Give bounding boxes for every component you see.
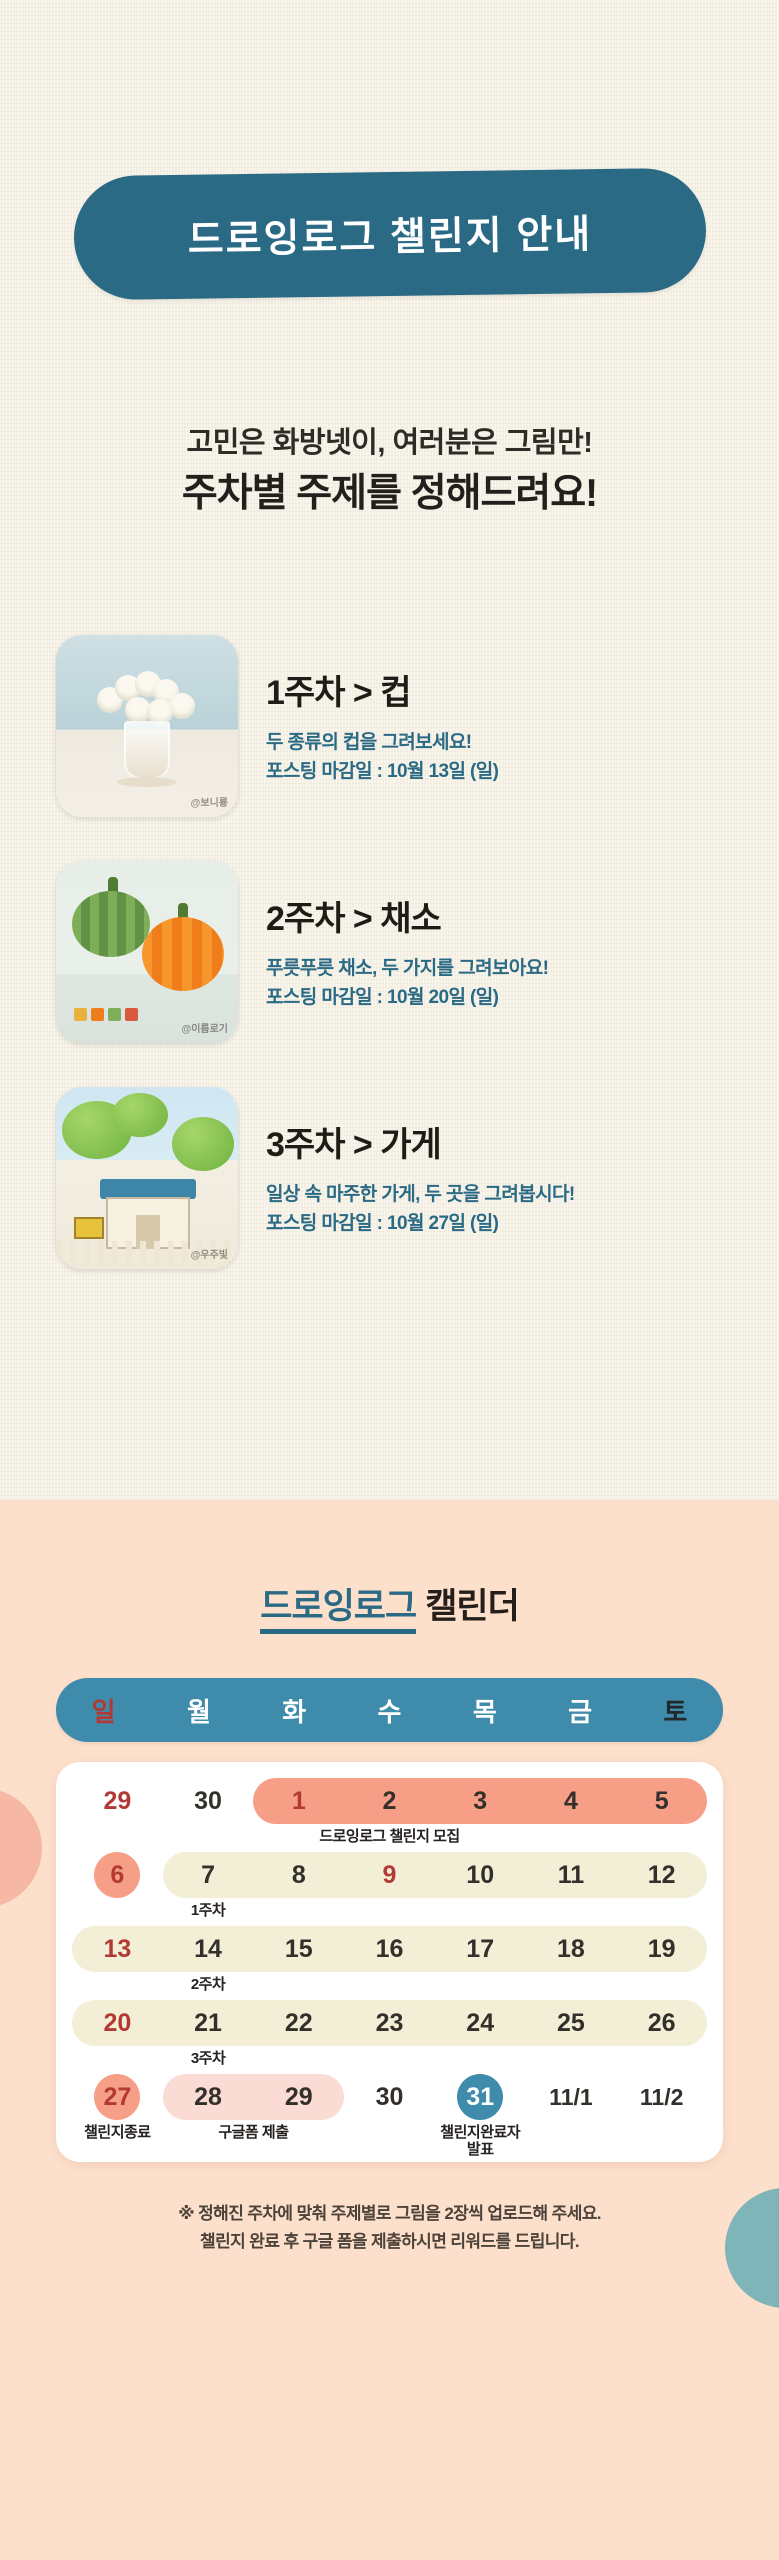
calendar-event-label: 3주차 [163,2050,254,2070]
day-number: 24 [466,2009,494,2038]
calendar-day-23[interactable]: 23 [344,1996,435,2050]
week-item: @보니룡 1주차 > 컵 두 종류의 컵을 그려보세요! 포스팅 마감일 : 1… [0,635,779,817]
week-description: 일상 속 마주한 가게, 두 곳을 그려봅시다! [266,1180,575,1209]
week-deadline: 포스팅 마감일 : 10월 13일 (일) [266,757,498,786]
calendar-day-8[interactable]: 8 [253,1848,344,1902]
banner-wrapper: 드로잉로그 챌린지 안내 [0,172,779,296]
calendar-day-16[interactable]: 16 [344,1922,435,1976]
calendar-week-row: 202122232425263주차 [72,1996,707,2070]
calendar-day-cells: 272829303111/111/2 [72,2070,707,2124]
day-number: 19 [648,1935,676,1964]
calendar-event-label: 챌린지종료 [72,2124,163,2159]
calendar-day-7[interactable]: 7 [163,1848,254,1902]
dow-monday: 월 [151,1692,246,1729]
day-number: 17 [466,1935,494,1964]
watermark: @이름로기 [181,1020,228,1035]
dow-thursday: 목 [437,1692,532,1729]
day-number: 25 [557,2009,585,2038]
paint-swatches-art [74,1008,138,1021]
glass-foot-art [117,777,177,787]
week-description: 푸릇푸릇 채소, 두 가지를 그려보아요! [266,954,548,983]
calendar-day-11-1[interactable]: 11/1 [526,2070,617,2124]
day-number: 11 [558,1861,584,1890]
week1-thumbnail-cup: @보니룡 [56,635,238,817]
calendar-day-cells: 13141516171819 [72,1922,707,1976]
weekly-topic-list: @보니룡 1주차 > 컵 두 종류의 컵을 그려보세요! 포스팅 마감일 : 1… [0,635,779,1313]
day-number: 11/2 [640,2084,684,2111]
calendar-day-cells: 293012345 [72,1774,707,1828]
dow-wednesday: 수 [342,1692,437,1729]
calendar-row-labels: 1주차 [72,1902,707,1922]
calendar-day-20[interactable]: 20 [72,1996,163,2050]
calendar-day-11[interactable]: 11 [526,1848,617,1902]
calendar-heading-accent: 드로잉로그 [260,1587,416,1634]
calendar-week-row: 272829303111/111/2챌린지종료구글폼 제출챌린지완료자 발표 [72,2070,707,2144]
calendar-week-row: 293012345드로잉로그 챌린지 모집 [72,1774,707,1848]
calendar-day-3[interactable]: 3 [435,1774,526,1828]
calendar-event-label: 1주차 [163,1902,254,1922]
day-number: 14 [194,1935,222,1964]
calendar-day-4[interactable]: 4 [526,1774,617,1828]
week3-thumbnail-shop: @우주빛 [56,1087,238,1269]
calendar-event-label: 2주차 [163,1976,254,1996]
calendar-day-2[interactable]: 2 [344,1774,435,1828]
calendar-event-label: 구글폼 제출 [163,2124,344,2159]
calendar-day-13[interactable]: 13 [72,1922,163,1976]
footnote: ※ 정해진 주차에 맞춰 주제별로 그림을 2장씩 업로드해 주세요. 챌린지 … [0,2200,779,2256]
footnote-line-2: 챌린지 완료 후 구글 폼을 제출하시면 리워드를 드립니다. [0,2228,779,2256]
calendar-day-28[interactable]: 28 [163,2070,254,2124]
day-number: 5 [655,1787,669,1816]
day-number: 21 [194,2009,222,2038]
tree-art [172,1117,234,1171]
day-of-week-bar: 일 월 화 수 목 금 토 [56,1678,723,1742]
calendar-day-10[interactable]: 10 [435,1848,526,1902]
roof-art [100,1179,196,1199]
day-number: 30 [194,1787,222,1816]
calendar-day-29[interactable]: 29 [72,1774,163,1828]
calendar-day-5[interactable]: 5 [616,1774,707,1828]
watermark: @보니룡 [191,794,228,809]
headline-title: 주차별 주제를 정해드려요! [0,471,779,518]
week2-thumbnail-vegetable: @이름로기 [56,861,238,1043]
day-number: 29 [285,2083,313,2112]
calendar-day-27[interactable]: 27 [72,2070,163,2124]
day-number: 6 [110,1861,124,1890]
calendar-row-labels: 2주차 [72,1976,707,1996]
week-text-block: 2주차 > 채소 푸릇푸릇 채소, 두 가지를 그려보아요! 포스팅 마감일 :… [266,861,548,1013]
day-number: 10 [466,1861,494,1890]
day-number: 12 [648,1861,676,1890]
day-number: 23 [376,2009,404,2038]
week-text-block: 1주차 > 컵 두 종류의 컵을 그려보세요! 포스팅 마감일 : 10월 13… [266,635,498,787]
watermark: @우주빛 [191,1246,228,1261]
calendar-row-labels: 3주차 [72,2050,707,2070]
day-number: 28 [194,2083,222,2112]
shop-sign-art [74,1217,104,1239]
day-number: 22 [285,2009,313,2038]
calendar-day-cells: 20212223242526 [72,1996,707,2050]
week-deadline: 포스팅 마감일 : 10월 20일 (일) [266,983,548,1012]
day-number: 18 [557,1935,585,1964]
dow-tuesday: 화 [247,1692,342,1729]
week-text-block: 3주차 > 가게 일상 속 마주한 가게, 두 곳을 그려봅시다! 포스팅 마감… [266,1087,575,1239]
day-number: 29 [103,1787,131,1816]
calendar-day-21[interactable]: 21 [163,1996,254,2050]
banner-title: 드로잉로그 챌린지 안내 [187,203,592,265]
day-number: 3 [473,1787,487,1816]
calendar-heading-plain: 캘린더 [425,1587,519,1626]
day-number: 2 [383,1787,397,1816]
day-number: 8 [292,1861,306,1890]
calendar-event-label: 드로잉로그 챌린지 모집 [253,1828,525,1848]
day-number: 30 [376,2083,404,2112]
week-title: 1주차 > 컵 [266,665,498,714]
dow-saturday: 토 [628,1692,723,1729]
day-number: 15 [285,1935,313,1964]
calendar-row-labels: 챌린지종료구글폼 제출챌린지완료자 발표 [72,2124,707,2144]
footnote-line-1: ※ 정해진 주차에 맞춰 주제별로 그림을 2장씩 업로드해 주세요. [0,2200,779,2228]
decorative-circle-left [0,1788,42,1908]
calendar-row-labels: 드로잉로그 챌린지 모집 [72,1828,707,1848]
dow-friday: 금 [532,1692,627,1729]
week-title: 3주차 > 가게 [266,1117,575,1166]
calendar-day-24[interactable]: 24 [435,1996,526,2050]
week-title: 2주차 > 채소 [266,891,548,940]
calendar-day-14[interactable]: 14 [163,1922,254,1976]
day-number: 26 [648,2009,676,2038]
calendar-section: 드로잉로그캘린더 일 월 화 수 목 금 토 293012345드로잉로그 챌린… [0,1500,779,2560]
calendar-day-6[interactable]: 6 [72,1848,163,1902]
calendar-day-31[interactable]: 31 [435,2070,526,2124]
calendar-day-30[interactable]: 30 [163,1774,254,1828]
calendar-grid: 293012345드로잉로그 챌린지 모집67891011121주차131415… [56,1762,723,2162]
calendar-day-19[interactable]: 19 [616,1922,707,1976]
day-number: 27 [103,2083,131,2112]
calendar-day-26[interactable]: 26 [616,1996,707,2050]
day-number: 1 [292,1787,306,1816]
day-number: 20 [103,2009,131,2038]
calendar-day-1[interactable]: 1 [253,1774,344,1828]
calendar-week-row: 131415161718192주차 [72,1922,707,1996]
green-pumpkin-art [72,891,150,957]
day-number: 11/1 [549,2084,593,2111]
tree-art [112,1093,168,1137]
week-item: @이름로기 2주차 > 채소 푸릇푸릇 채소, 두 가지를 그려보아요! 포스팅… [0,861,779,1043]
day-number: 31 [466,2083,494,2112]
calendar-day-25[interactable]: 25 [526,1996,617,2050]
calendar-day-15[interactable]: 15 [253,1922,344,1976]
headline-block: 고민은 화방넷이, 여러분은 그림만! 주차별 주제를 정해드려요! [0,425,779,518]
week-description: 두 종류의 컵을 그려보세요! [266,728,498,757]
intro-section: 드로잉로그 챌린지 안내 고민은 화방넷이, 여러분은 그림만! 주차별 주제를… [0,0,779,1500]
calendar-day-9[interactable]: 9 [344,1848,435,1902]
orange-pumpkin-art [142,917,224,991]
headline-subtitle: 고민은 화방넷이, 여러분은 그림만! [0,425,779,461]
calendar-day-12[interactable]: 12 [616,1848,707,1902]
day-number: 4 [564,1787,578,1816]
day-number: 7 [201,1861,215,1890]
title-banner: 드로잉로그 챌린지 안내 [73,168,707,301]
calendar-day-cells: 6789101112 [72,1848,707,1902]
day-number: 13 [103,1935,131,1964]
glass-art [124,721,170,779]
day-number: 9 [383,1861,397,1890]
week-item: @우주빛 3주차 > 가게 일상 속 마주한 가게, 두 곳을 그려봅시다! 포… [0,1087,779,1269]
calendar-event-label: 챌린지완료자 발표 [435,2124,526,2159]
calendar-day-18[interactable]: 18 [526,1922,617,1976]
calendar-day-17[interactable]: 17 [435,1922,526,1976]
day-number: 16 [376,1935,404,1964]
calendar-week-row: 67891011121주차 [72,1848,707,1922]
calendar-heading: 드로잉로그캘린더 [0,1578,779,1629]
calendar-day-29[interactable]: 29 [253,2070,344,2124]
dow-sunday: 일 [56,1692,151,1729]
week-deadline: 포스팅 마감일 : 10월 27일 (일) [266,1209,575,1238]
calendar-day-22[interactable]: 22 [253,1996,344,2050]
calendar-day-30[interactable]: 30 [344,2070,435,2124]
calendar-day-11-2[interactable]: 11/2 [616,2070,707,2124]
